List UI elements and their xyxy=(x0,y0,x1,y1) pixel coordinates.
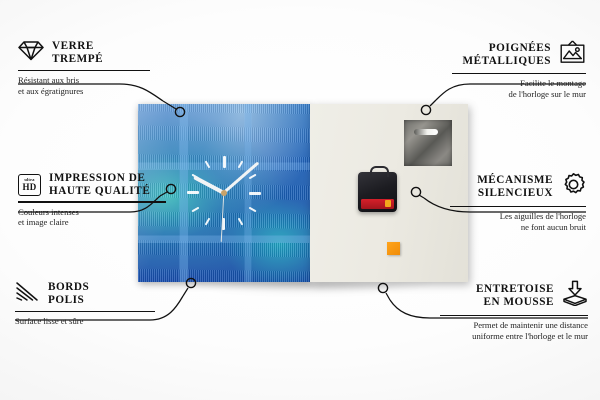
callout-description: Résistant aux bris et aux égratignures xyxy=(18,75,150,96)
callout-divider xyxy=(18,70,150,71)
callout-divider xyxy=(15,311,155,312)
clock-minute-hand xyxy=(223,162,260,195)
callout-title: ENTRETOISE EN MOUSSE xyxy=(476,283,554,308)
foam-spacer-arrow-icon xyxy=(562,280,588,311)
callout-divider xyxy=(18,201,166,202)
framed-picture-hanging-icon xyxy=(559,40,586,69)
callout-description: Couleurs intenses et image claire xyxy=(18,207,166,228)
callout-divider xyxy=(452,73,586,74)
battery-plus-terminal xyxy=(385,200,391,207)
metal-hanger-plate xyxy=(404,120,452,166)
callout-description: Facilite le montage de l'horloge sur le … xyxy=(452,78,586,99)
diamond-icon xyxy=(18,40,44,66)
callout-title: MÉCANISME SILENCIEUX xyxy=(477,174,553,199)
callout-bords-polis: BORDS POLIS Surface lisse et sûre xyxy=(15,281,155,327)
callout-entretoise-en-mousse: ENTRETOISE EN MOUSSE Permet de maintenir… xyxy=(440,280,588,342)
callout-divider xyxy=(450,206,586,207)
callout-description: Permet de maintenir une distance uniform… xyxy=(440,320,588,341)
product-drop-shadow xyxy=(150,282,470,298)
clock-back-panel xyxy=(310,104,468,282)
mechanism-hanging-loop xyxy=(370,166,389,177)
callout-mecanisme-silencieux: MÉCANISME SILENCIEUX Les aiguilles de l'… xyxy=(450,172,586,233)
callout-verre-trempe: VERRE TREMPÉ Résistant aux bris et aux é… xyxy=(18,40,150,97)
callout-description: Surface lisse et sûre xyxy=(15,316,155,327)
ultra-hd-icon-bottom-label: HD xyxy=(23,183,37,192)
foam-spacer xyxy=(387,242,400,255)
quartz-mechanism-box xyxy=(358,172,397,212)
callout-divider xyxy=(440,315,588,316)
callout-poignees-metalliques: POIGNÉES MÉTALLIQUES Facilite le montage… xyxy=(452,40,586,100)
product-image xyxy=(138,104,468,282)
clock-hand-cap xyxy=(221,190,227,196)
callout-description: Les aiguilles de l'horloge ne font aucun… xyxy=(450,211,586,232)
infographic-canvas: VERRE TREMPÉ Résistant aux bris et aux é… xyxy=(0,0,600,400)
battery xyxy=(361,199,394,209)
callout-title: VERRE TREMPÉ xyxy=(52,40,103,65)
callout-title: IMPRESSION DE HAUTE QUALITÉ xyxy=(49,172,150,197)
polished-edges-icon xyxy=(15,281,40,307)
hanger-slot xyxy=(414,129,438,135)
callout-impression-haute-qualite: ultra HD IMPRESSION DE HAUTE QUALITÉ Cou… xyxy=(18,172,166,228)
callout-title: POIGNÉES MÉTALLIQUES xyxy=(462,42,551,67)
callout-title: BORDS POLIS xyxy=(48,281,89,306)
ultra-hd-icon: ultra HD xyxy=(18,174,41,196)
gear-icon xyxy=(561,172,586,202)
